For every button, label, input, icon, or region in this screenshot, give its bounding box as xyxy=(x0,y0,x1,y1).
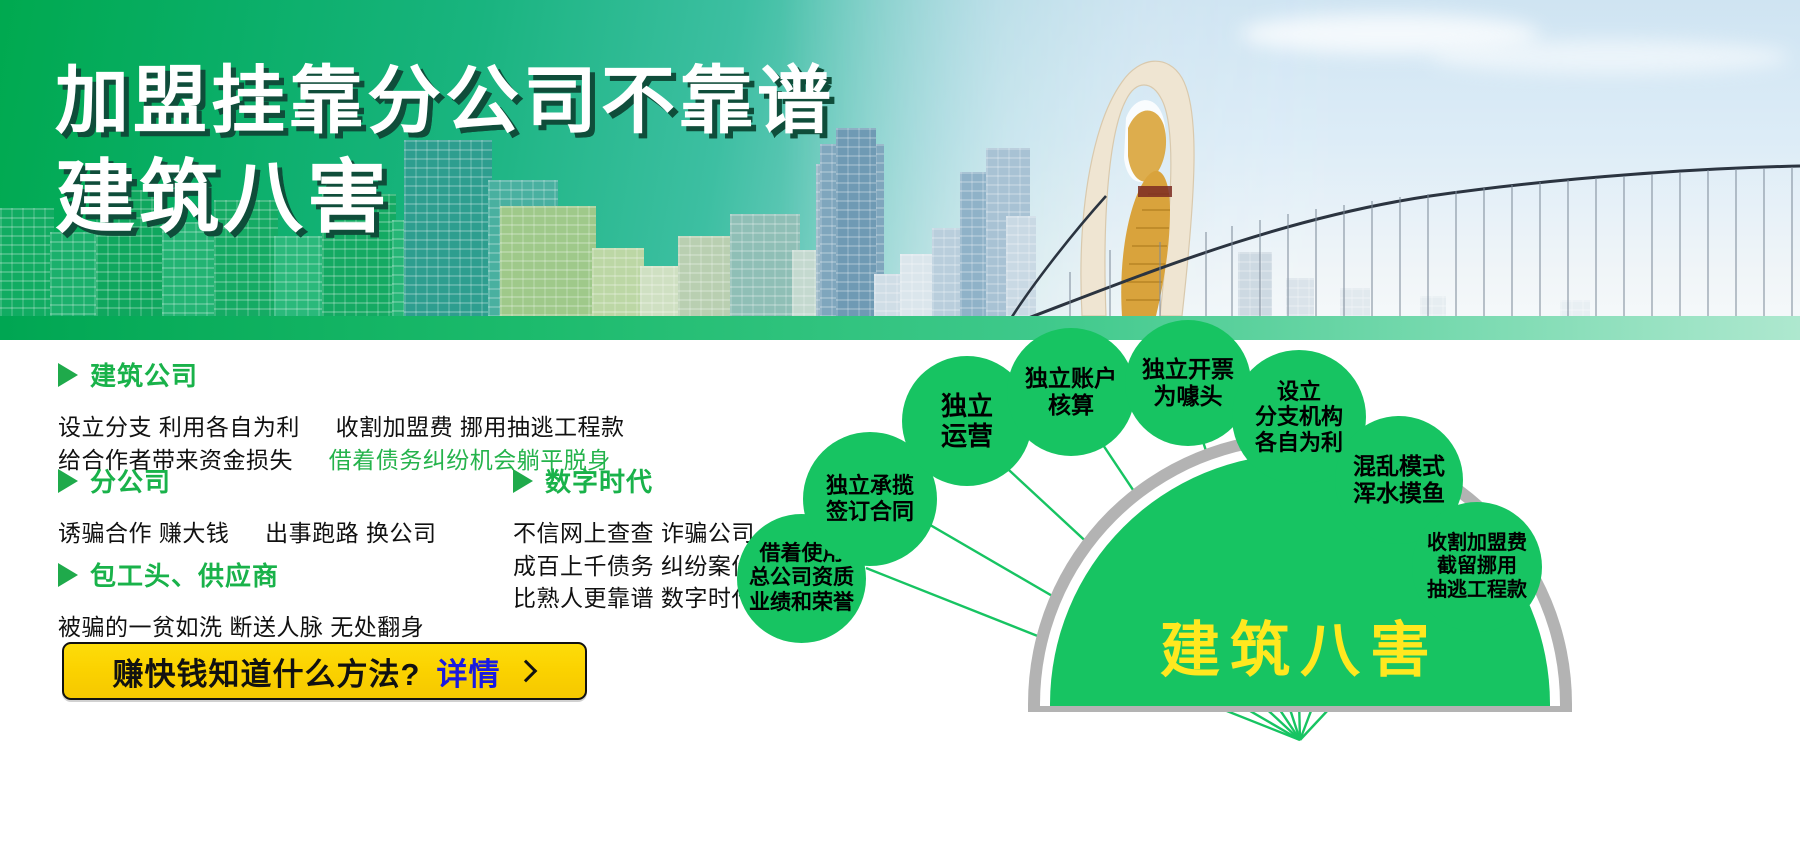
dome-center-title: 建筑八害 xyxy=(980,602,1620,689)
bubble-line: 为噱头 xyxy=(1154,383,1223,409)
section-digital-era: 数字时代 不信网上查查 诈骗公司 成百上千债务 纠纷案件 比熟人更靠谱 数字时代 xyxy=(513,462,755,615)
body-text: 出事跑路 换公司 xyxy=(265,520,436,546)
section-body: 不信网上查查 诈骗公司 成百上千债务 纠纷案件 比熟人更靠谱 数字时代 xyxy=(513,517,755,615)
cta-label: 赚快钱知道什么方法? xyxy=(113,649,421,694)
bubble-line: 签订合同 xyxy=(826,499,914,524)
body-text: 收割加盟费 挪用抽逃工程款 xyxy=(336,414,625,440)
bubble-line: 总公司资质 xyxy=(749,566,854,589)
bubble-b3-text: 独立运营 xyxy=(941,391,993,451)
triangle-bullet-icon xyxy=(513,469,533,493)
bubble-line: 各自为利 xyxy=(1255,430,1343,455)
bubble-line: 独立承揽 xyxy=(826,473,914,498)
bubble-line: 核算 xyxy=(1048,392,1094,418)
bubble-b6-text: 设立分支机构各自为利 xyxy=(1255,379,1343,456)
section-heading: 分公司 xyxy=(58,462,437,499)
chevron-right-icon xyxy=(515,660,538,683)
bridge-illustration xyxy=(1010,0,1800,340)
section-heading: 建筑公司 xyxy=(58,356,625,393)
section-heading-label: 包工头、供应商 xyxy=(90,556,279,593)
bubble-line: 运营 xyxy=(941,421,993,451)
cta-button[interactable]: 赚快钱知道什么方法? 详情 xyxy=(62,642,587,700)
section-branch-company: 分公司 诱骗合作 赚大钱 出事跑路 换公司 xyxy=(58,462,437,550)
hero-title-line2: 建筑八害 xyxy=(55,156,835,241)
bubble-line: 浑水摸鱼 xyxy=(1353,480,1445,506)
banner-page: 加盟挂靠分公司不靠谱 建筑八害 建筑公司 设立分支 利用各自为利 收割加盟费 挪… xyxy=(0,0,1800,844)
section-heading-label: 数字时代 xyxy=(545,462,653,499)
triangle-bullet-icon xyxy=(58,563,78,587)
left-content-column: 建筑公司 设立分支 利用各自为利 收割加盟费 挪用抽逃工程款 给合作者带来资金损… xyxy=(0,340,800,844)
bubble-b4[interactable]: 独立账户核算 xyxy=(1007,328,1135,456)
bubble-line: 独立开票 xyxy=(1142,356,1234,382)
triangle-bullet-icon xyxy=(58,469,78,493)
bubble-line: 收割加盟费 xyxy=(1427,532,1527,554)
bubble-b8-text: 收割加盟费截留挪用抽逃工程款 xyxy=(1427,532,1527,602)
hero-title: 加盟挂靠分公司不靠谱 建筑八害 xyxy=(55,62,835,241)
section-heading-label: 建筑公司 xyxy=(90,356,198,393)
bubble-b2-text: 独立承揽签订合同 xyxy=(826,473,914,524)
bubble-b4-text: 独立账户核算 xyxy=(1025,365,1117,418)
bubble-line: 独立 xyxy=(941,391,993,421)
section-body: 诱骗合作 赚大钱 出事跑路 换公司 xyxy=(58,517,437,550)
section-construction-company: 建筑公司 设立分支 利用各自为利 收割加盟费 挪用抽逃工程款 给合作者带来资金损… xyxy=(58,356,625,476)
bubble-line: 混乱模式 xyxy=(1353,453,1445,479)
bubble-line: 抽逃工程款 xyxy=(1427,579,1527,601)
hero-banner: 加盟挂靠分公司不靠谱 建筑八害 xyxy=(0,0,1800,340)
cta-link-label[interactable]: 详情 xyxy=(436,649,500,694)
section-heading: 数字时代 xyxy=(513,462,755,499)
bubble-line: 分支机构 xyxy=(1255,404,1343,429)
eight-harms-diagram: 建筑八害 借着使用总公司资质业绩和荣誉 独立承揽签订合同 独立运营 独立账户核算… xyxy=(800,340,1800,844)
body-text: 不信网上查查 诈骗公司 xyxy=(513,517,755,550)
body-text: 成百上千债务 纠纷案件 xyxy=(513,550,755,583)
section-heading-label: 分公司 xyxy=(90,462,171,499)
section-heading: 包工头、供应商 xyxy=(58,556,424,593)
bubble-line: 设立 xyxy=(1277,379,1321,404)
hero-title-line1: 加盟挂靠分公司不靠谱 xyxy=(55,62,835,140)
body-text: 诱骗合作 赚大钱 xyxy=(58,520,229,546)
body-text: 设立分支 利用各自为利 xyxy=(58,414,300,440)
bubble-line: 业绩和荣誉 xyxy=(749,591,854,614)
bubble-line: 独立账户 xyxy=(1025,365,1117,391)
bubble-b5-text: 独立开票为噱头 xyxy=(1142,356,1234,409)
hero-bottom-band xyxy=(0,316,1800,340)
section-contractor-supplier: 包工头、供应商 被骗的一贫如洗 断送人脉 无处翻身 xyxy=(58,556,424,644)
bubble-b7-text: 混乱模式浑水摸鱼 xyxy=(1353,453,1445,506)
body-text: 比熟人更靠谱 数字时代 xyxy=(513,582,755,615)
bubble-line: 截留挪用 xyxy=(1437,555,1517,577)
triangle-bullet-icon xyxy=(58,363,78,387)
section-body: 被骗的一贫如洗 断送人脉 无处翻身 xyxy=(58,611,424,644)
